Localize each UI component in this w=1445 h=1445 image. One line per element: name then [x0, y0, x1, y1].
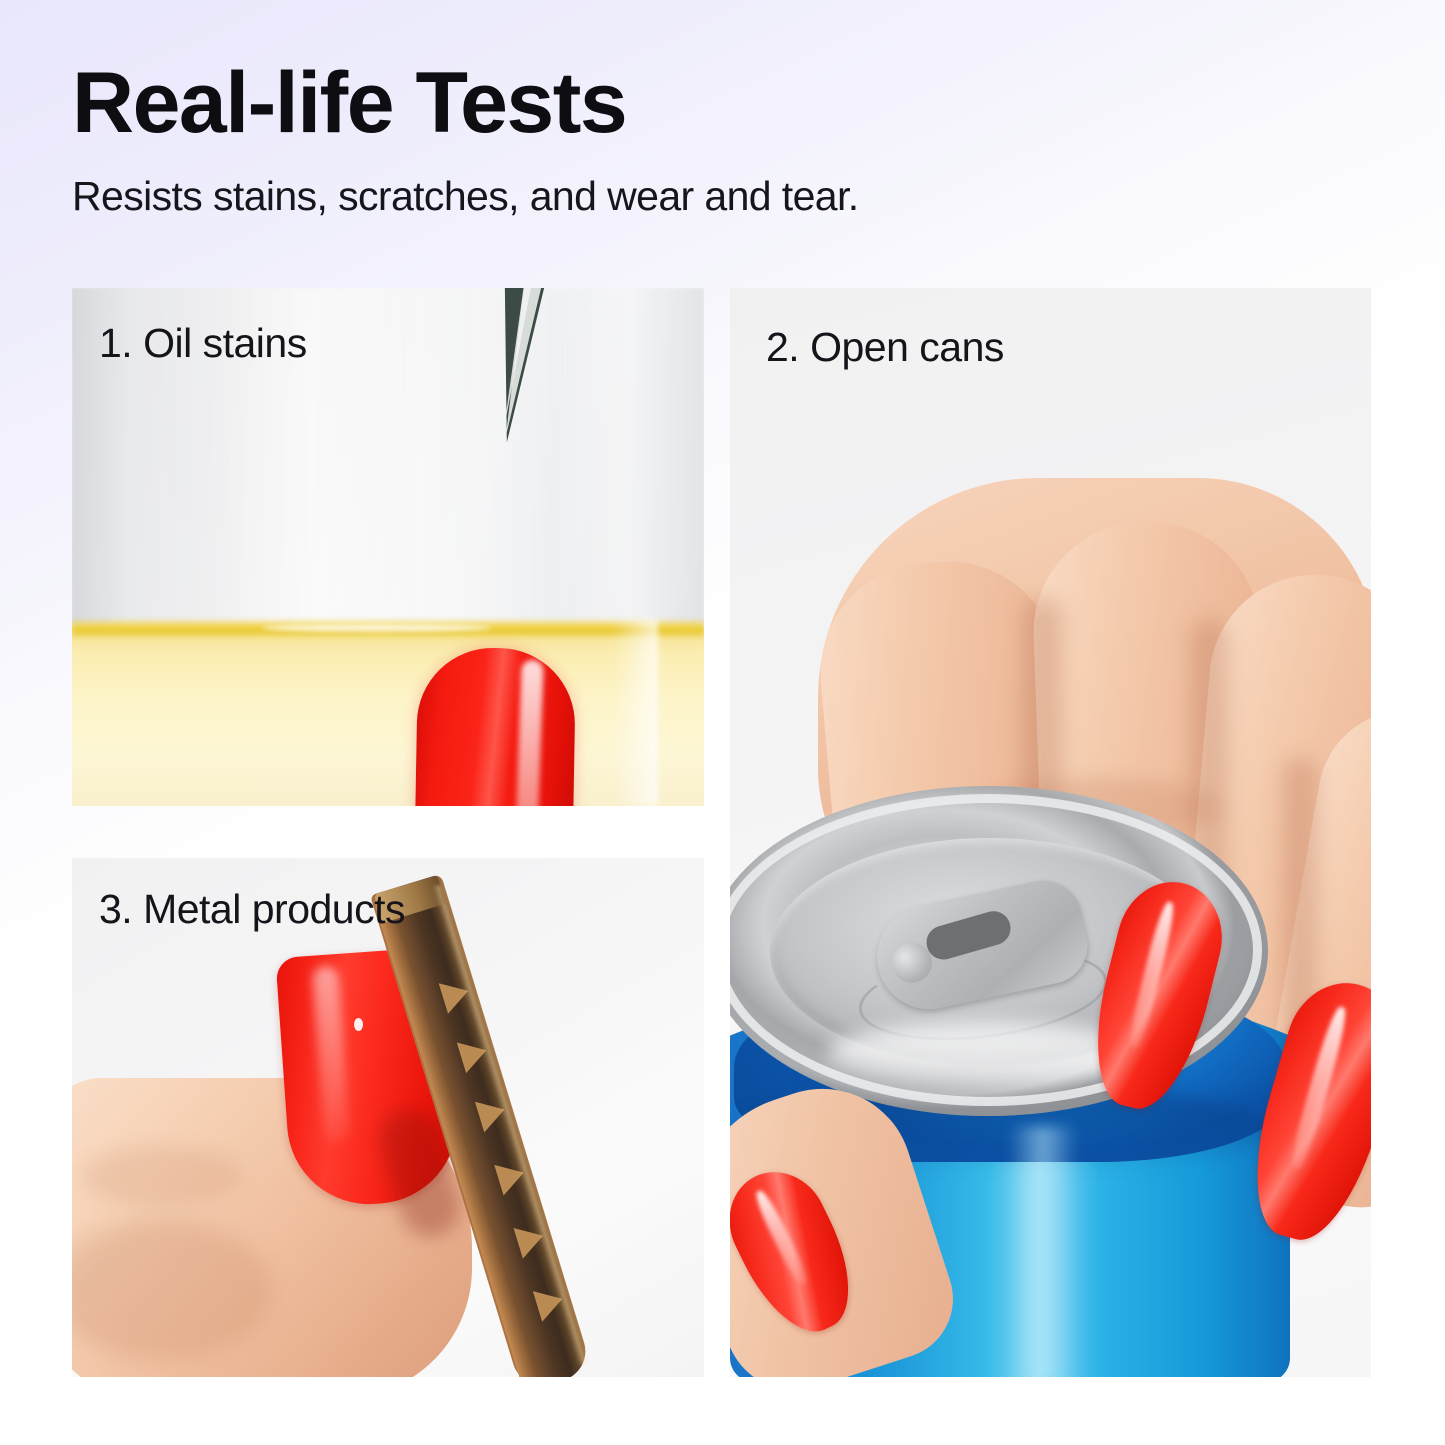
can-tab-hole: [922, 907, 1014, 963]
finger-crease-2: [82, 1146, 242, 1206]
panel-label-open-cans: 2. Open cans: [766, 324, 1004, 371]
panel-label-metal-products: 3. Metal products: [99, 886, 405, 933]
panel-metal-products: 3. Metal products: [72, 858, 704, 1377]
red-nail-sample: [414, 647, 576, 806]
header: Real-life Tests Resists stains, scratche…: [72, 60, 1372, 221]
page-subtitle: Resists stains, scratches, and wear and …: [72, 172, 1372, 221]
oil-liquid: [72, 628, 704, 806]
panel-label-oil-stains: 1. Oil stains: [99, 320, 307, 367]
panel-open-cans: 2. Open cans: [730, 288, 1371, 1377]
page-title: Real-life Tests: [72, 60, 1372, 146]
panel-oil-stains: 1. Oil stains: [72, 288, 704, 806]
red-nail-square-highlight-dot: [354, 1018, 363, 1031]
can-body-gloss: [1008, 1126, 1078, 1377]
infographic-root: Real-life Tests Resists stains, scratche…: [0, 0, 1445, 1445]
glass-right-edge-highlight: [612, 618, 658, 806]
oil-surface-highlight: [262, 624, 492, 632]
